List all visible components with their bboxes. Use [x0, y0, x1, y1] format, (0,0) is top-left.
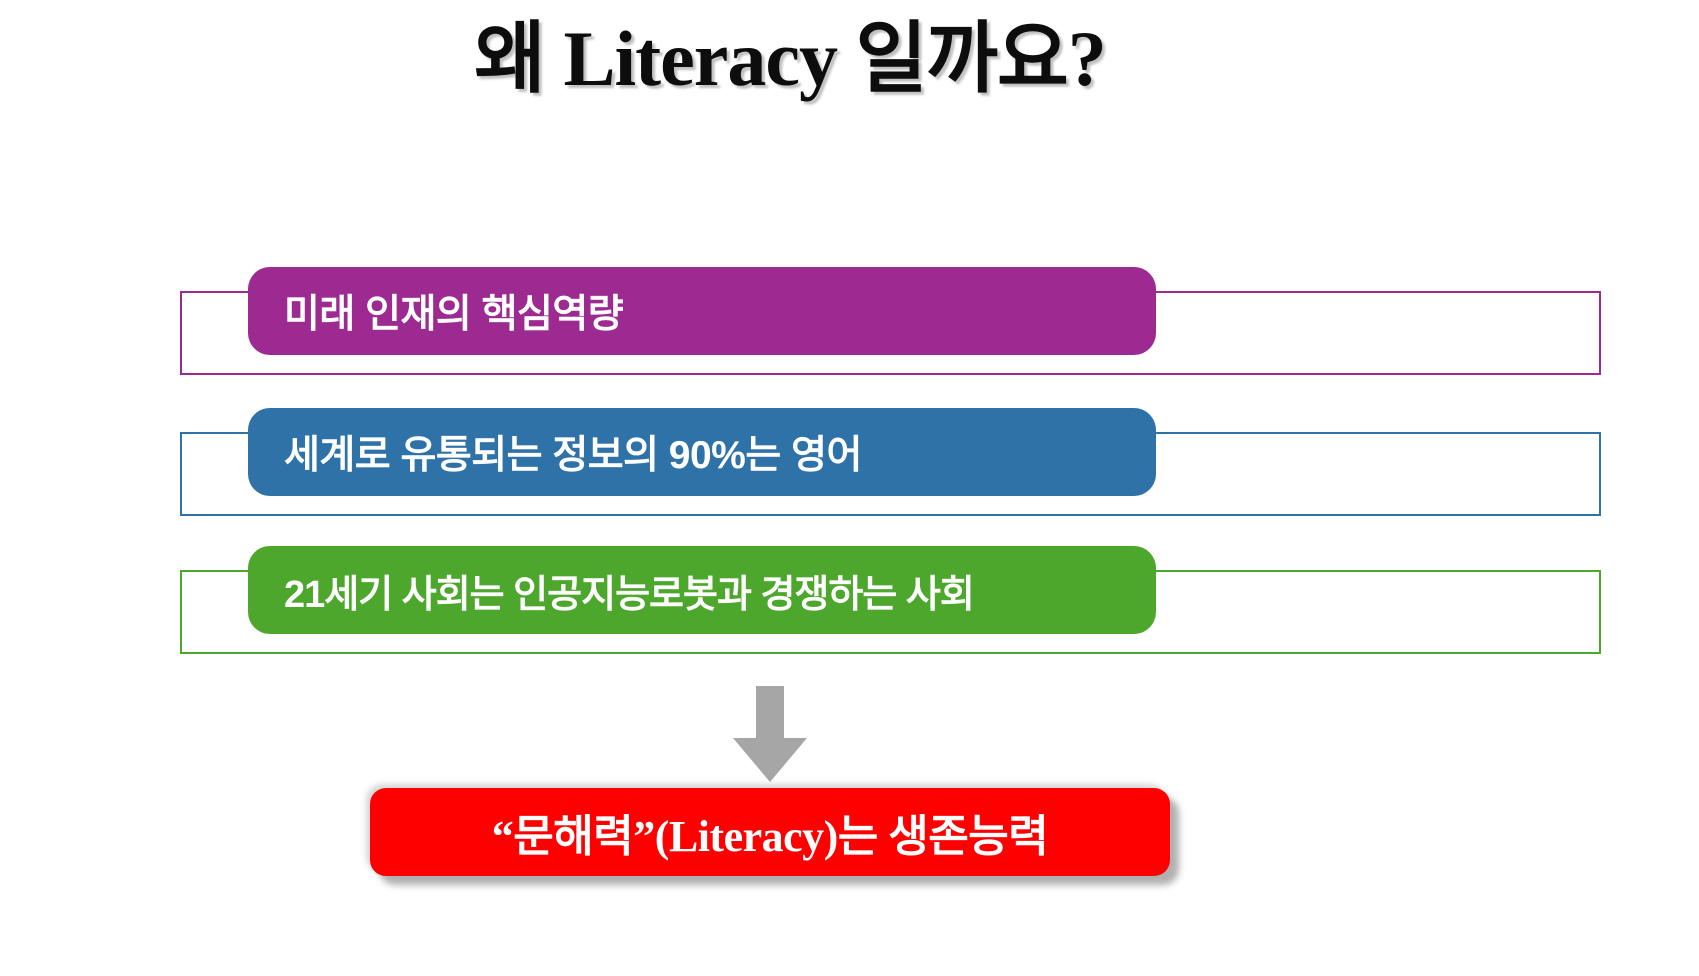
arrow-down-icon: [733, 686, 807, 782]
page-title: 왜 Literacy 일까요?: [0, 14, 1580, 104]
reason-label-2: 세계로 유통되는 정보의 90%는 영어: [284, 424, 862, 480]
reason-row-3: 21세기 사회는 인공지능로봇과 경쟁하는 사회: [180, 546, 1601, 654]
reason-label-1: 미래 인재의 핵심역량: [284, 283, 623, 339]
reason-row-1: 미래 인재의 핵심역량: [180, 267, 1601, 375]
reason-row-2: 세계로 유통되는 정보의 90%는 영어: [180, 408, 1601, 516]
conclusion-label: “문해력”(Literacy)는 생존능력: [492, 800, 1048, 864]
reason-pill-2[interactable]: 세계로 유통되는 정보의 90%는 영어: [248, 408, 1156, 496]
conclusion-box[interactable]: “문해력”(Literacy)는 생존능력: [370, 788, 1170, 876]
reason-pill-3[interactable]: 21세기 사회는 인공지능로봇과 경쟁하는 사회: [248, 546, 1156, 634]
reason-label-3: 21세기 사회는 인공지능로봇과 경쟁하는 사회: [284, 563, 974, 618]
reason-pill-1[interactable]: 미래 인재의 핵심역량: [248, 267, 1156, 355]
slide-canvas: 왜 Literacy 일까요? 미래 인재의 핵심역량 세계로 유통되는 정보의…: [0, 0, 1699, 976]
